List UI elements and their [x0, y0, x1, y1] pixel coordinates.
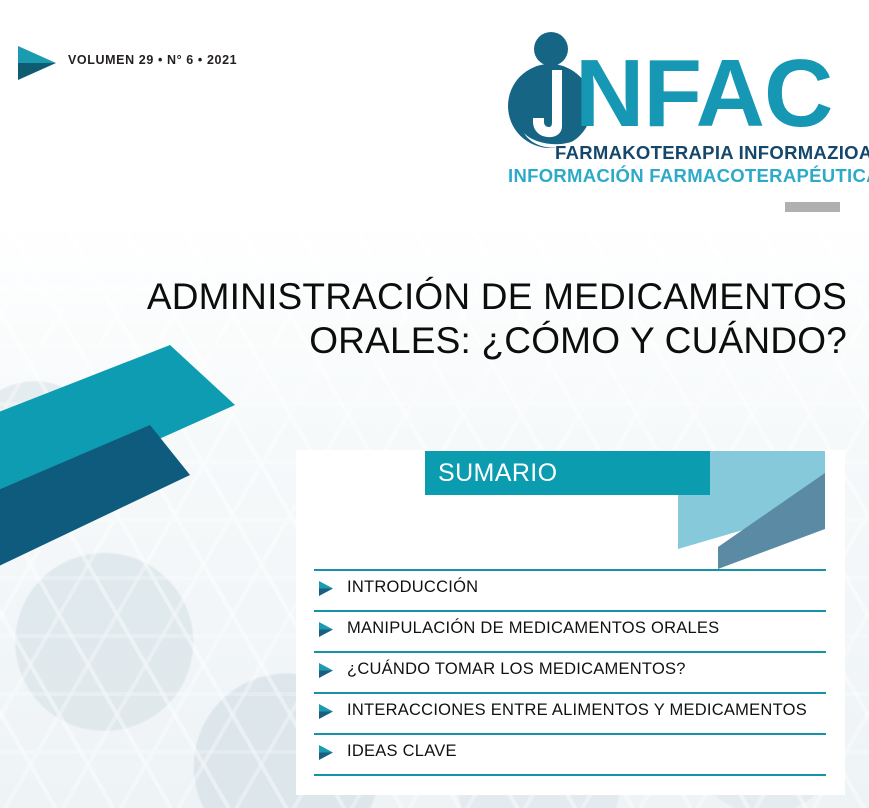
triangle-right-icon — [317, 662, 334, 679]
volume-issue-year-label: VOLUMEN 29 • N° 6 • 2021 — [68, 53, 237, 67]
triangle-right-icon — [317, 621, 334, 638]
list-item[interactable]: IDEAS CLAVE — [314, 733, 826, 776]
triangle-right-icon — [317, 703, 334, 720]
page-title-line1: ADMINISTRACIÓN DE MEDICAMENTOS — [0, 275, 847, 319]
summary-list: INTRODUCCIÓN MANIPULACIÓN DE MEDICAMENTO… — [314, 569, 826, 776]
list-item[interactable]: MANIPULACIÓN DE MEDICAMENTOS ORALES — [314, 610, 826, 651]
triangle-right-icon — [16, 44, 58, 82]
logo-subtitle-spanish: INFORMACIÓN FARMACOTERAPÉUTICA — [508, 165, 869, 187]
summary-heading-label: SUMARIO — [438, 459, 557, 488]
triangle-right-icon — [317, 580, 334, 597]
list-item-label: MANIPULACIÓN DE MEDICAMENTOS ORALES — [347, 618, 719, 639]
infac-wordmark: NFAC — [575, 46, 832, 142]
page-title: ADMINISTRACIÓN DE MEDICAMENTOS ORALES: ¿… — [0, 275, 847, 363]
gray-accent-bar — [785, 202, 840, 212]
list-item-label: INTERACCIONES ENTRE ALIMENTOS Y MEDICAME… — [347, 700, 807, 721]
infac-cover-page: VOLUMEN 29 • N° 6 • 2021 NFAC FARMAKOTER… — [0, 0, 869, 808]
infac-logo: NFAC FARMAKOTERAPIA INFORMAZIOA INFORMAC… — [500, 26, 852, 186]
list-item-label: INTRODUCCIÓN — [347, 577, 478, 598]
summary-heading-bar: SUMARIO — [425, 451, 710, 495]
list-item-label: IDEAS CLAVE — [347, 741, 457, 762]
list-item-label: ¿CUÁNDO TOMAR LOS MEDICAMENTOS? — [347, 659, 686, 680]
list-item[interactable]: ¿CUÁNDO TOMAR LOS MEDICAMENTOS? — [314, 651, 826, 692]
list-item[interactable]: INTRODUCCIÓN — [314, 569, 826, 610]
page-header: VOLUMEN 29 • N° 6 • 2021 NFAC FARMAKOTER… — [0, 0, 869, 232]
list-item[interactable]: INTERACCIONES ENTRE ALIMENTOS Y MEDICAME… — [314, 692, 826, 733]
triangle-right-icon — [317, 744, 334, 761]
page-title-line2: ORALES: ¿CÓMO Y CUÁNDO? — [0, 319, 847, 363]
logo-subtitle-basque: FARMAKOTERAPIA INFORMAZIOA — [555, 142, 869, 164]
